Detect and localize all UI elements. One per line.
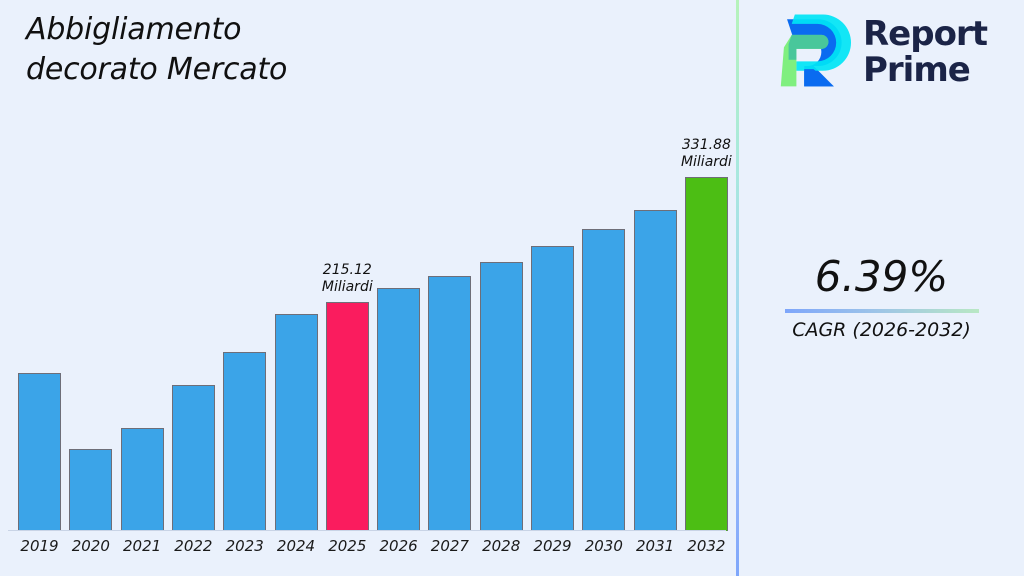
bar-2031 <box>634 210 677 531</box>
report-graphic: Abbigliamento decorato Mercato 215.12 Mi… <box>0 0 1024 576</box>
bar-2024 <box>275 314 318 531</box>
x-tick-2027: 2027 <box>424 537 475 555</box>
bar-2021 <box>121 428 164 531</box>
data-label-2025: 215.12 Miliardi <box>297 262 397 296</box>
x-tick-2032: 2032 <box>681 537 732 555</box>
bar-2025 <box>326 302 369 531</box>
bar-2032 <box>685 177 728 531</box>
bar-2019 <box>18 373 61 532</box>
bar-2030 <box>582 229 625 531</box>
x-tick-2025: 2025 <box>322 537 373 555</box>
bar-2029 <box>531 246 574 531</box>
bar-2027 <box>428 276 471 531</box>
x-tick-2023: 2023 <box>219 537 270 555</box>
bar-chart: 215.12 Miliardi331.88 Miliardi 201920202… <box>0 0 737 576</box>
x-tick-2030: 2030 <box>578 537 629 555</box>
report-prime-r-logo-icon <box>773 12 851 92</box>
bar-2023 <box>223 352 266 531</box>
x-tick-2031: 2031 <box>630 537 681 555</box>
cagr-label: CAGR (2026-2032) <box>739 319 1024 341</box>
chart-panel: Abbigliamento decorato Mercato 215.12 Mi… <box>0 0 737 576</box>
x-tick-2028: 2028 <box>476 537 527 555</box>
cagr-divider-rule <box>785 309 979 313</box>
summary-panel: Report Prime 6.39% CAGR (2026-2032) <box>739 0 1024 576</box>
bar-2022 <box>172 385 215 531</box>
brand-logo: Report Prime <box>773 12 987 92</box>
bar-2020 <box>69 449 112 531</box>
x-tick-2021: 2021 <box>117 537 168 555</box>
cagr-block: 6.39% CAGR (2026-2032) <box>739 252 1024 341</box>
bar-2026 <box>377 288 420 531</box>
cagr-value: 6.39% <box>739 252 1024 301</box>
x-tick-2019: 2019 <box>14 537 65 555</box>
bar-2028 <box>480 262 523 531</box>
x-tick-2022: 2022 <box>168 537 219 555</box>
x-tick-2026: 2026 <box>373 537 424 555</box>
x-tick-2029: 2029 <box>527 537 578 555</box>
x-axis-line <box>8 530 726 531</box>
brand-name: Report Prime <box>863 16 987 88</box>
x-tick-2020: 2020 <box>65 537 116 555</box>
x-tick-2024: 2024 <box>271 537 322 555</box>
